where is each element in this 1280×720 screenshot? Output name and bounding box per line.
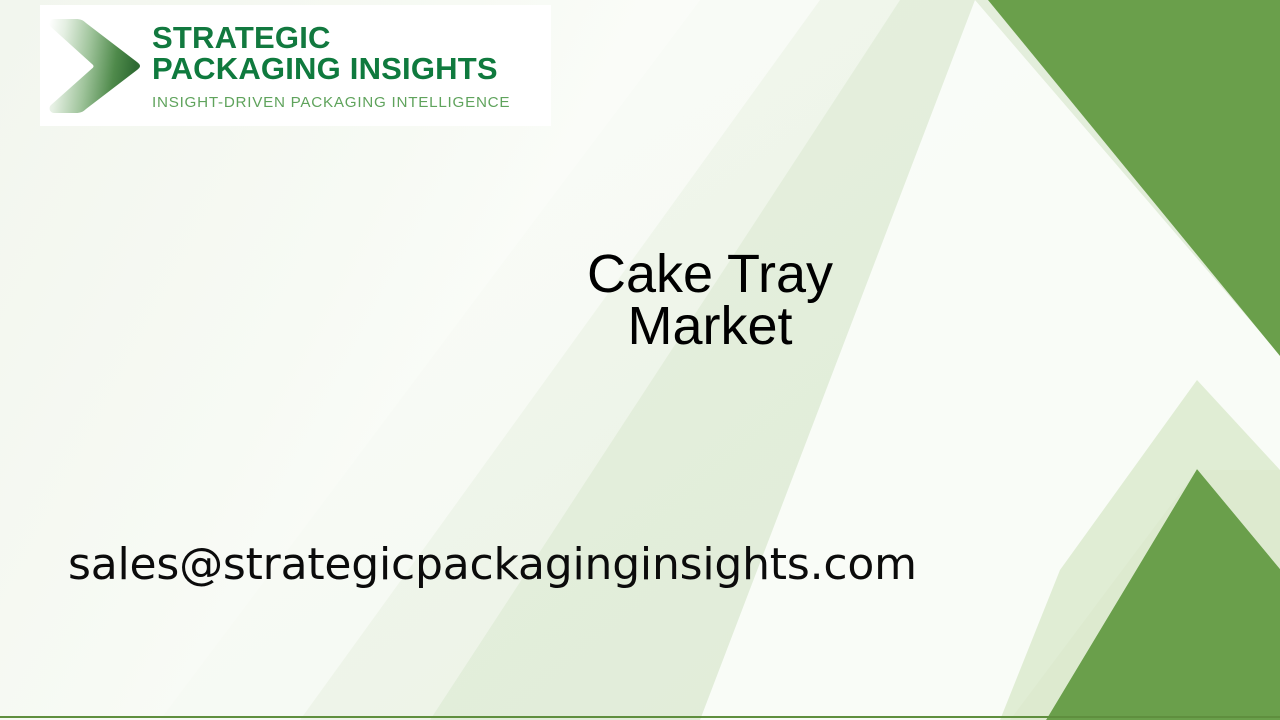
- brand-logo-text: STRATEGIC PACKAGING INSIGHTS INSIGHT-DRI…: [152, 5, 551, 126]
- title-slide: STRATEGIC PACKAGING INSIGHTS INSIGHT-DRI…: [0, 0, 1280, 720]
- brand-name-line-2: PACKAGING INSIGHTS: [152, 53, 551, 84]
- page-title: Cake Tray Market: [390, 248, 1030, 352]
- brand-tagline: INSIGHT-DRIVEN PACKAGING INTELLIGENCE: [152, 94, 551, 111]
- brand-logo: STRATEGIC PACKAGING INSIGHTS INSIGHT-DRI…: [40, 5, 551, 126]
- chevron-right-icon: [40, 5, 152, 126]
- contact-email: sales@strategicpackaginginsights.com: [68, 536, 917, 594]
- brand-name-line-1: STRATEGIC: [152, 22, 551, 53]
- bottom-accent-rule: [0, 716, 1280, 718]
